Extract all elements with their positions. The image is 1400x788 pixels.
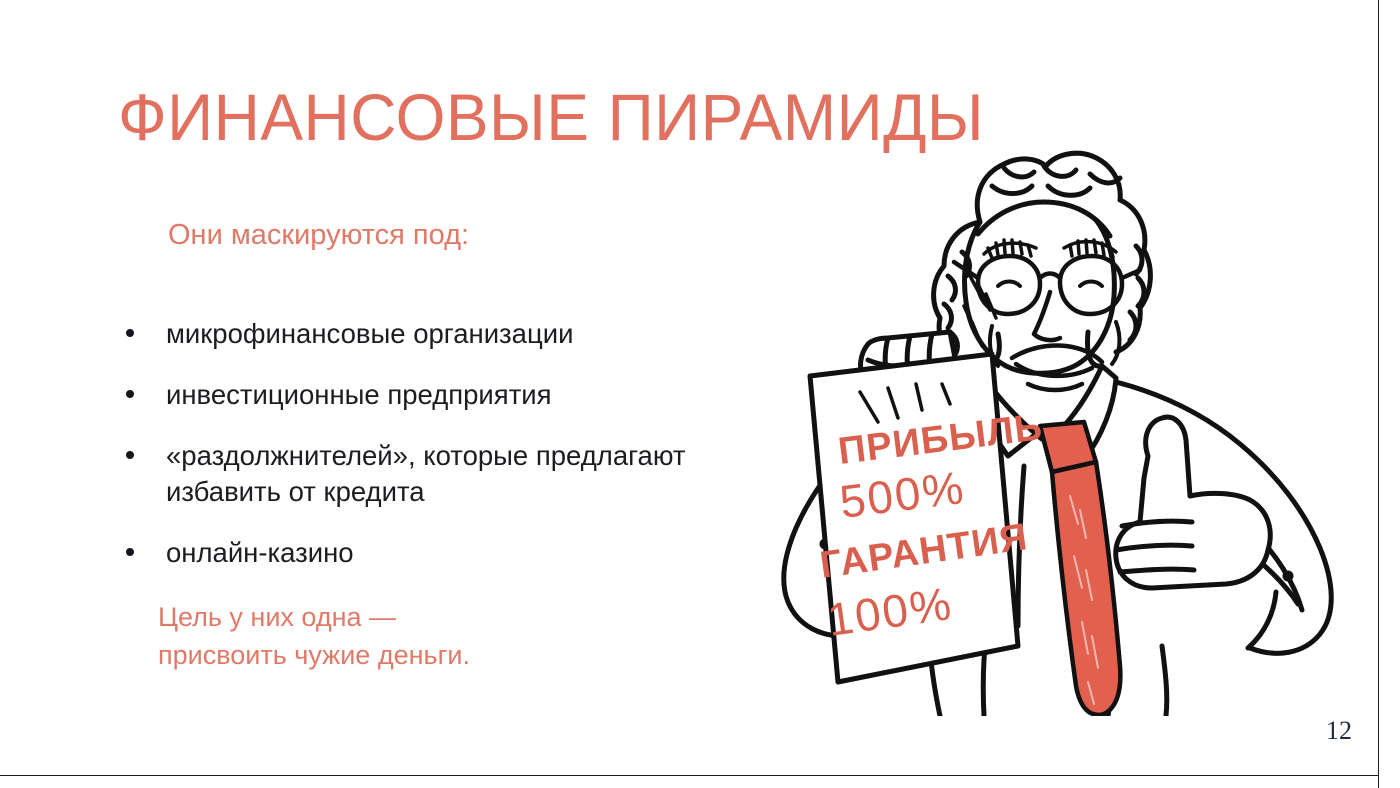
page-number: 12 [1326,716,1352,746]
list-item: «раздолжнителей», которые предлагают изб… [118,438,698,508]
necktie [1040,422,1120,715]
bullet-dot-icon [126,390,134,398]
list-item-label: инвестиционные предприятия [166,377,698,412]
subtitle: Они маскируются под: [168,218,469,253]
bullet-dot-icon [126,451,134,459]
thumbs-up-icon [1116,417,1271,588]
list-item: микрофинансовые организации [118,316,698,351]
list-item: инвестиционные предприятия [118,377,698,412]
eyes [998,282,1102,287]
slide: ФИНАНСОВЫЕ ПИРАМИДЫ Они маскируются под:… [0,0,1400,788]
list-item: онлайн-казино [118,535,698,570]
bullet-dot-icon [126,329,134,337]
list-item-label: микрофинансовые организации [166,316,698,351]
illustration-man-with-sign: ПРИБЫЛЬ 500% ГАРАНТИЯ 100% [692,126,1392,716]
list-item-label: «раздолжнителей», которые предлагают изб… [166,438,698,508]
mouth [1012,346,1102,391]
bullet-dot-icon [126,548,134,556]
bullet-list: микрофинансовые организации инвестиционн… [118,316,698,570]
closing-note: Цель у них одна — присвоить чужие деньги… [158,598,470,675]
slide-border-bottom [0,775,1379,776]
list-item-label: онлайн-казино [166,535,698,570]
